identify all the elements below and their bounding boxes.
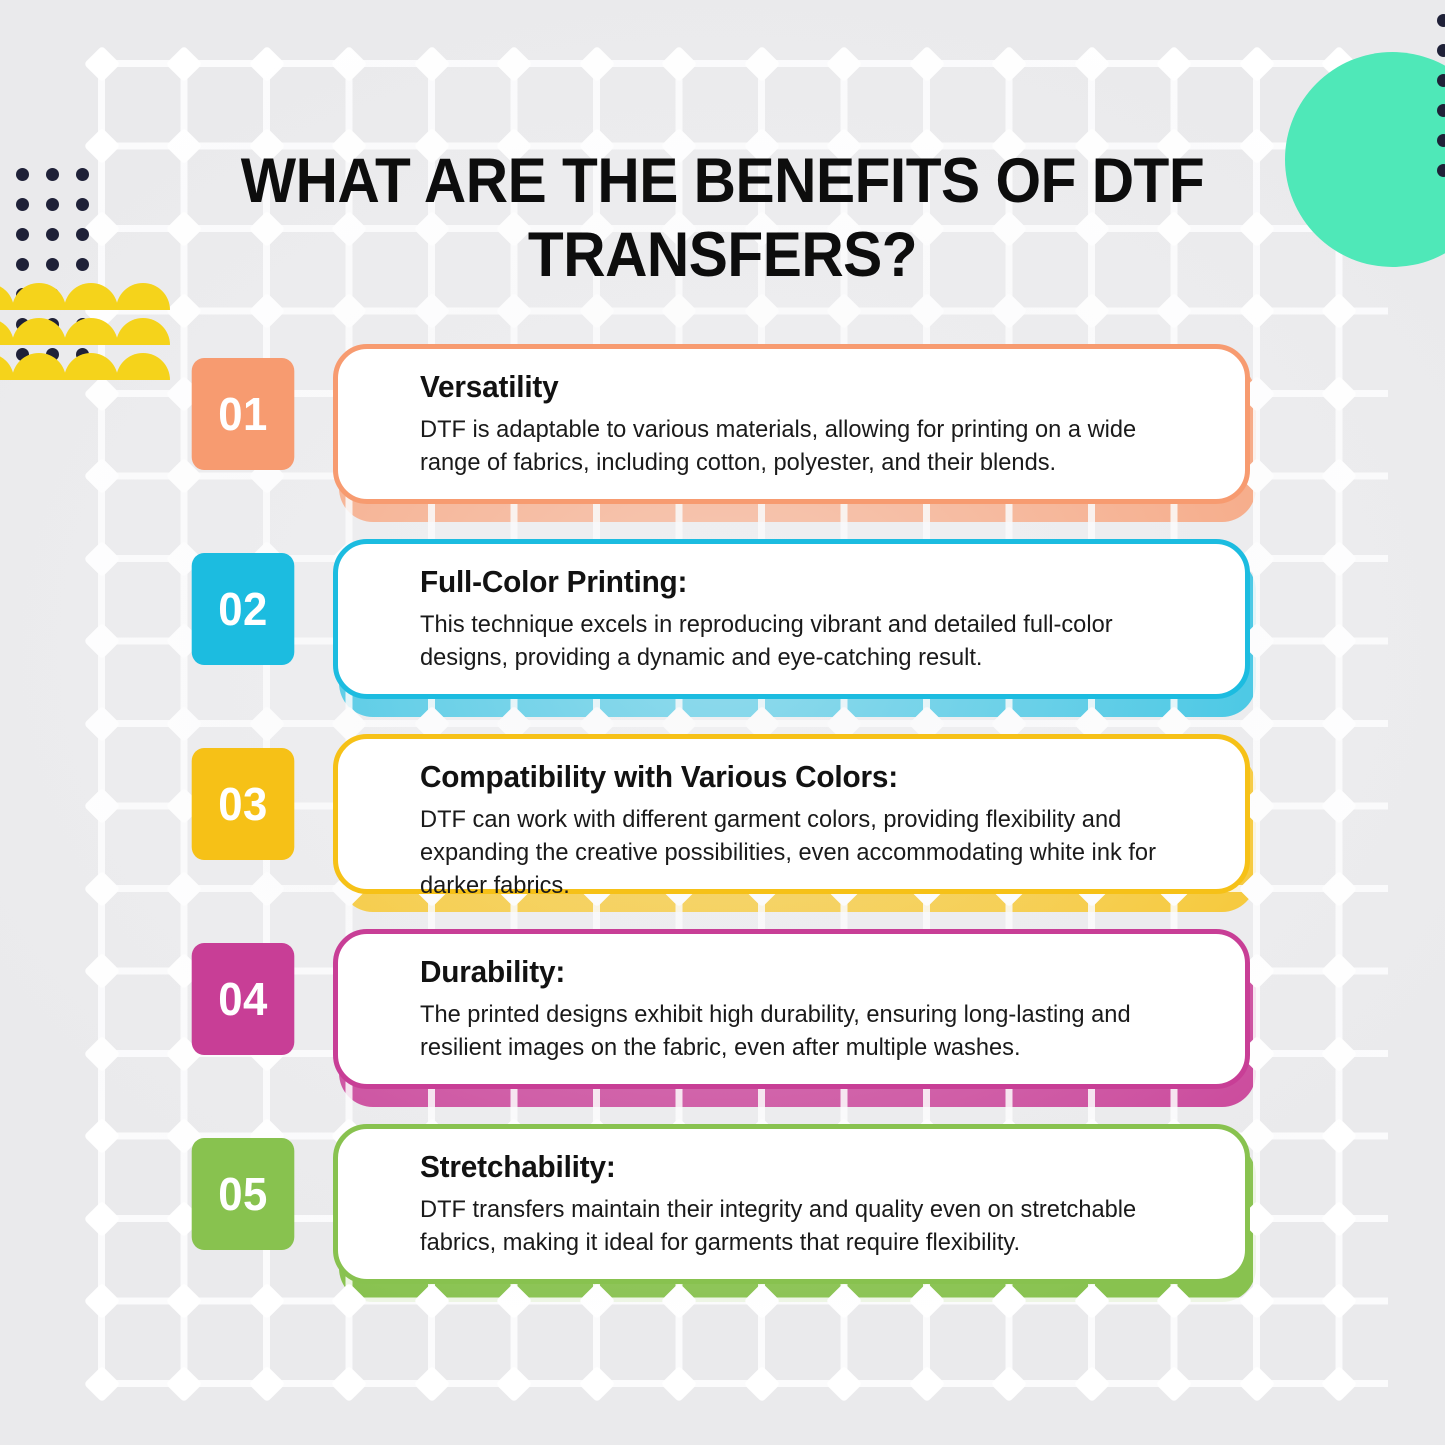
yellow-dome xyxy=(64,283,118,310)
decorative-dot xyxy=(76,228,89,241)
decorative-dot xyxy=(1437,164,1445,177)
benefit-card-body: DTF is adaptable to various materials, a… xyxy=(420,414,1183,480)
grid-diamond xyxy=(1073,45,1110,82)
grid-diamond xyxy=(1238,1365,1275,1402)
grid-diamond xyxy=(578,45,615,82)
benefit-card: Full-Color Printing:This technique excel… xyxy=(333,539,1250,699)
grid-diamond xyxy=(1156,1365,1193,1402)
grid-diamond xyxy=(826,293,863,330)
benefit-card: Durability:The printed designs exhibit h… xyxy=(333,929,1250,1089)
decorative-dot xyxy=(1437,134,1445,147)
grid-diamond xyxy=(331,1365,368,1402)
grid-diamond xyxy=(83,128,120,165)
grid-diamond xyxy=(908,45,945,82)
grid-diamond xyxy=(248,293,285,330)
grid-diamond xyxy=(413,293,450,330)
grid-diamond xyxy=(166,293,203,330)
benefit-card-title: Compatibility with Various Colors: xyxy=(420,759,1179,795)
grid-diamond xyxy=(166,45,203,82)
grid-diamond xyxy=(83,210,120,247)
grid-diamond xyxy=(83,45,120,82)
decorative-dot xyxy=(16,168,29,181)
teal-circle-decoration xyxy=(1285,52,1445,267)
decorative-dot xyxy=(76,258,89,271)
grid-diamond xyxy=(661,45,698,82)
grid-diamond xyxy=(248,1365,285,1402)
benefit-card-body: DTF can work with different garment colo… xyxy=(420,804,1183,902)
grid-diamond xyxy=(743,45,780,82)
grid-diamond xyxy=(1073,293,1110,330)
grid-diamond xyxy=(661,1365,698,1402)
benefit-card-body: This technique excels in reproducing vib… xyxy=(420,609,1183,675)
page-title: WHAT ARE THE BENEFITS OF DTF TRANSFERS? xyxy=(190,144,1255,293)
decorative-dot xyxy=(1437,14,1445,27)
grid-diamond xyxy=(413,45,450,82)
benefit-card-title: Durability: xyxy=(420,954,1179,990)
grid-diamond xyxy=(991,1365,1028,1402)
grid-diamond xyxy=(578,1365,615,1402)
grid-diamond xyxy=(743,1365,780,1402)
benefits-list: 01VersatilityDTF is adaptable to various… xyxy=(0,340,1445,1315)
grid-diamond xyxy=(496,293,533,330)
decorative-dot xyxy=(16,228,29,241)
grid-diamond xyxy=(578,293,615,330)
grid-diamond xyxy=(991,293,1028,330)
grid-diamond xyxy=(743,293,780,330)
benefit-card-title: Versatility xyxy=(420,369,1179,405)
benefit-card-title: Full-Color Printing: xyxy=(420,564,1179,600)
grid-diamond xyxy=(166,1365,203,1402)
grid-diamond xyxy=(1156,45,1193,82)
benefit-card: Compatibility with Various Colors:DTF ca… xyxy=(333,734,1250,894)
grid-diamond xyxy=(661,293,698,330)
grid-diamond xyxy=(496,1365,533,1402)
benefit-card: Stretchability:DTF transfers maintain th… xyxy=(333,1124,1250,1284)
benefit-row: 02Full-Color Printing:This technique exc… xyxy=(0,535,1445,730)
grid-diamond xyxy=(908,293,945,330)
decorative-dot xyxy=(46,258,59,271)
grid-diamond xyxy=(826,1365,863,1402)
grid-diamond xyxy=(331,45,368,82)
decorative-dot xyxy=(16,198,29,211)
grid-diamond xyxy=(991,45,1028,82)
decorative-dot xyxy=(76,168,89,181)
grid-diamond xyxy=(1238,45,1275,82)
benefit-number-badge: 02 xyxy=(192,553,295,665)
yellow-dome xyxy=(116,283,170,310)
benefit-number-badge: 03 xyxy=(192,748,295,860)
benefit-number-badge: 05 xyxy=(192,1138,295,1250)
decorative-dot xyxy=(46,168,59,181)
benefit-card-title: Stretchability: xyxy=(420,1149,1179,1185)
grid-diamond xyxy=(1073,1365,1110,1402)
grid-diamond xyxy=(1321,1365,1358,1402)
yellow-dome xyxy=(12,283,66,310)
benefit-row: 04Durability:The printed designs exhibit… xyxy=(0,925,1445,1120)
benefit-card: VersatilityDTF is adaptable to various m… xyxy=(333,344,1250,504)
benefit-number-badge: 01 xyxy=(192,358,295,470)
grid-diamond xyxy=(1238,293,1275,330)
benefit-number-badge: 04 xyxy=(192,943,295,1055)
benefit-row: 05Stretchability:DTF transfers maintain … xyxy=(0,1120,1445,1315)
grid-diamond xyxy=(1321,293,1358,330)
decorative-dot xyxy=(46,228,59,241)
grid-diamond xyxy=(496,45,533,82)
decorative-dot xyxy=(1437,44,1445,57)
benefit-row: 03Compatibility with Various Colors:DTF … xyxy=(0,730,1445,925)
grid-diamond xyxy=(413,1365,450,1402)
grid-diamond xyxy=(826,45,863,82)
benefit-card-body: The printed designs exhibit high durabil… xyxy=(420,999,1183,1065)
decorative-dot xyxy=(46,198,59,211)
grid-diamond xyxy=(248,45,285,82)
grid-diamond xyxy=(1156,293,1193,330)
benefit-row: 01VersatilityDTF is adaptable to various… xyxy=(0,340,1445,535)
grid-diamond xyxy=(83,1365,120,1402)
grid-diamond xyxy=(331,293,368,330)
decorative-dot xyxy=(76,198,89,211)
grid-diamond xyxy=(908,1365,945,1402)
decorative-dot xyxy=(1437,74,1445,87)
decorative-dot xyxy=(1437,104,1445,117)
benefit-card-body: DTF transfers maintain their integrity a… xyxy=(420,1194,1183,1260)
decorative-dot xyxy=(16,258,29,271)
